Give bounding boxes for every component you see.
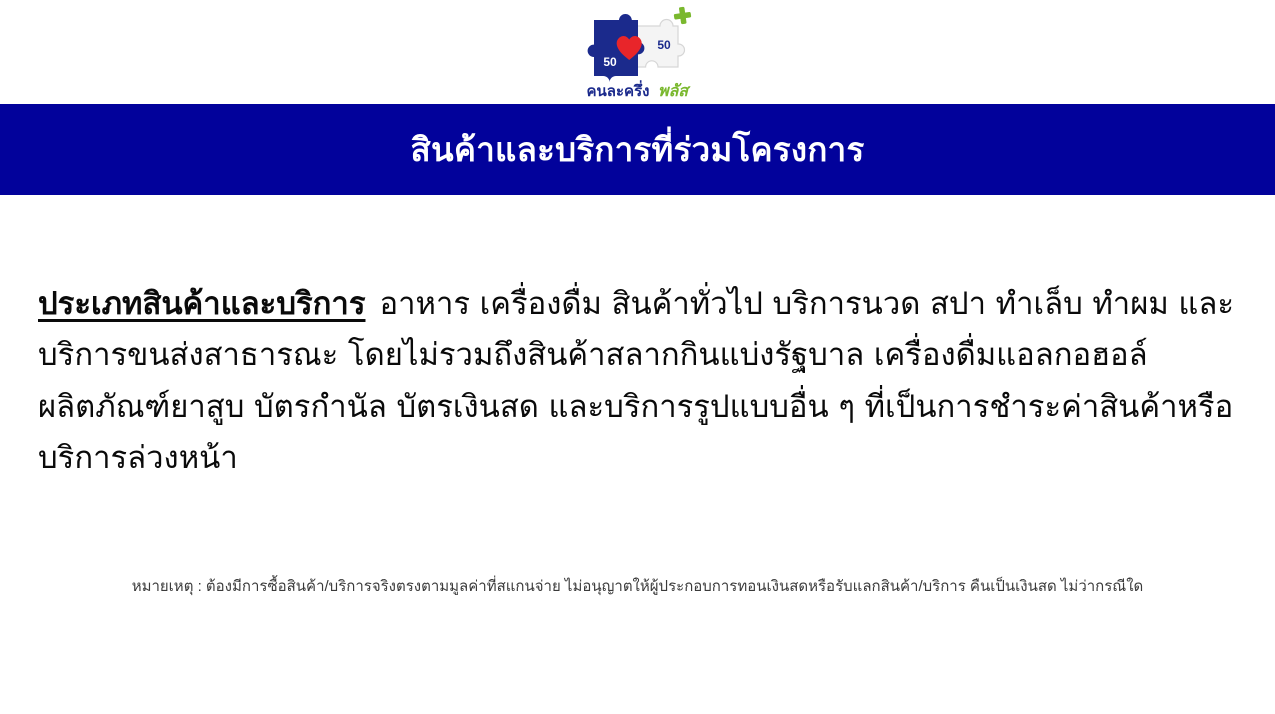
product-categories-paragraph: ประเภทสินค้าและบริการอาหาร เครื่องดื่ม ส… <box>38 278 1239 484</box>
logo-graphic: 50 50 คนละครึ่ง พลัส <box>572 4 704 100</box>
logo-wordmark-main: คนละครึ่ง <box>586 80 649 100</box>
page-title: สินค้าและบริการที่ร่วมโครงการ <box>411 133 865 166</box>
footnote-area: หมายเหตุ : ต้องมีการซื้อสินค้า/บริการจริ… <box>0 576 1275 597</box>
svg-text:50: 50 <box>657 38 671 52</box>
puzzle-piece-right: 50 <box>635 20 685 68</box>
lead-in-label: ประเภทสินค้าและบริการ <box>38 286 365 321</box>
khon-la-khrueng-plus-logo: 50 50 คนละครึ่ง พลัส <box>572 4 704 100</box>
logo-wordmark-suffix: พลัส <box>657 82 690 100</box>
svg-text:50: 50 <box>603 55 617 69</box>
header-band: สินค้าและบริการที่ร่วมโครงการ <box>0 104 1275 195</box>
logo-area: 50 50 คนละครึ่ง พลัส <box>0 0 1275 104</box>
plus-icon <box>673 7 691 25</box>
footnote-text: หมายเหตุ : ต้องมีการซื้อสินค้า/บริการจริ… <box>132 576 1144 597</box>
main-content: ประเภทสินค้าและบริการอาหาร เครื่องดื่ม ส… <box>0 195 1275 484</box>
